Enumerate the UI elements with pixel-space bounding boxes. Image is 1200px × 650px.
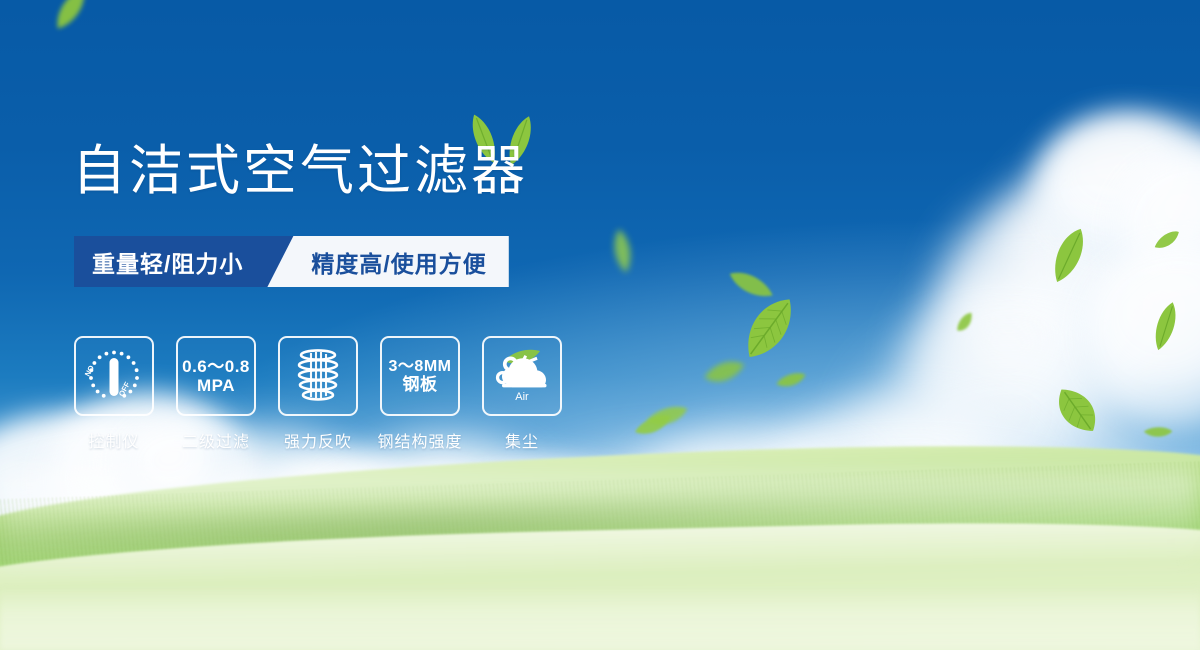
dial-off-label: OFF xyxy=(117,380,132,398)
tagline-badge: 重量轻/阻力小 精度高/使用方便 xyxy=(74,236,509,287)
feature-item-control-dial[interactable]: NO OFF 控制仪 xyxy=(74,336,154,452)
feature-item-backblow[interactable]: 强力反吹 xyxy=(278,336,358,452)
tagline-badge-right: 精度高/使用方便 xyxy=(267,236,508,287)
control-dial-icon: NO OFF xyxy=(83,345,145,407)
steel-plate-text-icon: 3～8MM 钢板 xyxy=(389,358,452,395)
air-cloud-icon: Air xyxy=(490,347,554,405)
feature-label: 强力反吹 xyxy=(284,428,352,452)
air-label: Air xyxy=(515,391,529,403)
feature-icon-box: 0.6～0.8 MPA xyxy=(176,336,256,416)
feature-item-steel[interactable]: 3～8MM 钢板 钢结构强度 xyxy=(380,336,460,452)
page-title: 自洁式空气过滤器 xyxy=(72,143,528,199)
feature-item-dust[interactable]: Air 集尘 xyxy=(482,336,562,452)
feature-list: NO OFF 控制仪 0.6～0.8 MPA 二级过滤 xyxy=(74,336,562,452)
feature-label: 控制仪 xyxy=(88,428,139,452)
pressure-text-icon: 0.6～0.8 MPA xyxy=(182,357,250,395)
feature-label: 集尘 xyxy=(505,428,539,452)
product-banner: 自洁式空气过滤器 重量轻/阻力小 精度高/使用方便 xyxy=(0,0,1200,650)
feature-label: 钢结构强度 xyxy=(378,428,463,452)
banner-content: 自洁式空气过滤器 重量轻/阻力小 精度高/使用方便 xyxy=(0,0,1200,650)
dial-on-label: NO xyxy=(83,364,96,378)
feature-icon-box: Air xyxy=(482,336,562,416)
feature-icon-box xyxy=(278,336,358,416)
filter-coil-icon xyxy=(290,347,346,405)
feature-icon-box: 3～8MM 钢板 xyxy=(380,336,460,416)
tagline-badge-left: 重量轻/阻力小 xyxy=(74,236,295,287)
feature-item-pressure[interactable]: 0.6～0.8 MPA 二级过滤 xyxy=(176,336,256,452)
feature-icon-box: NO OFF xyxy=(74,336,154,416)
feature-label: 二级过滤 xyxy=(182,428,250,452)
